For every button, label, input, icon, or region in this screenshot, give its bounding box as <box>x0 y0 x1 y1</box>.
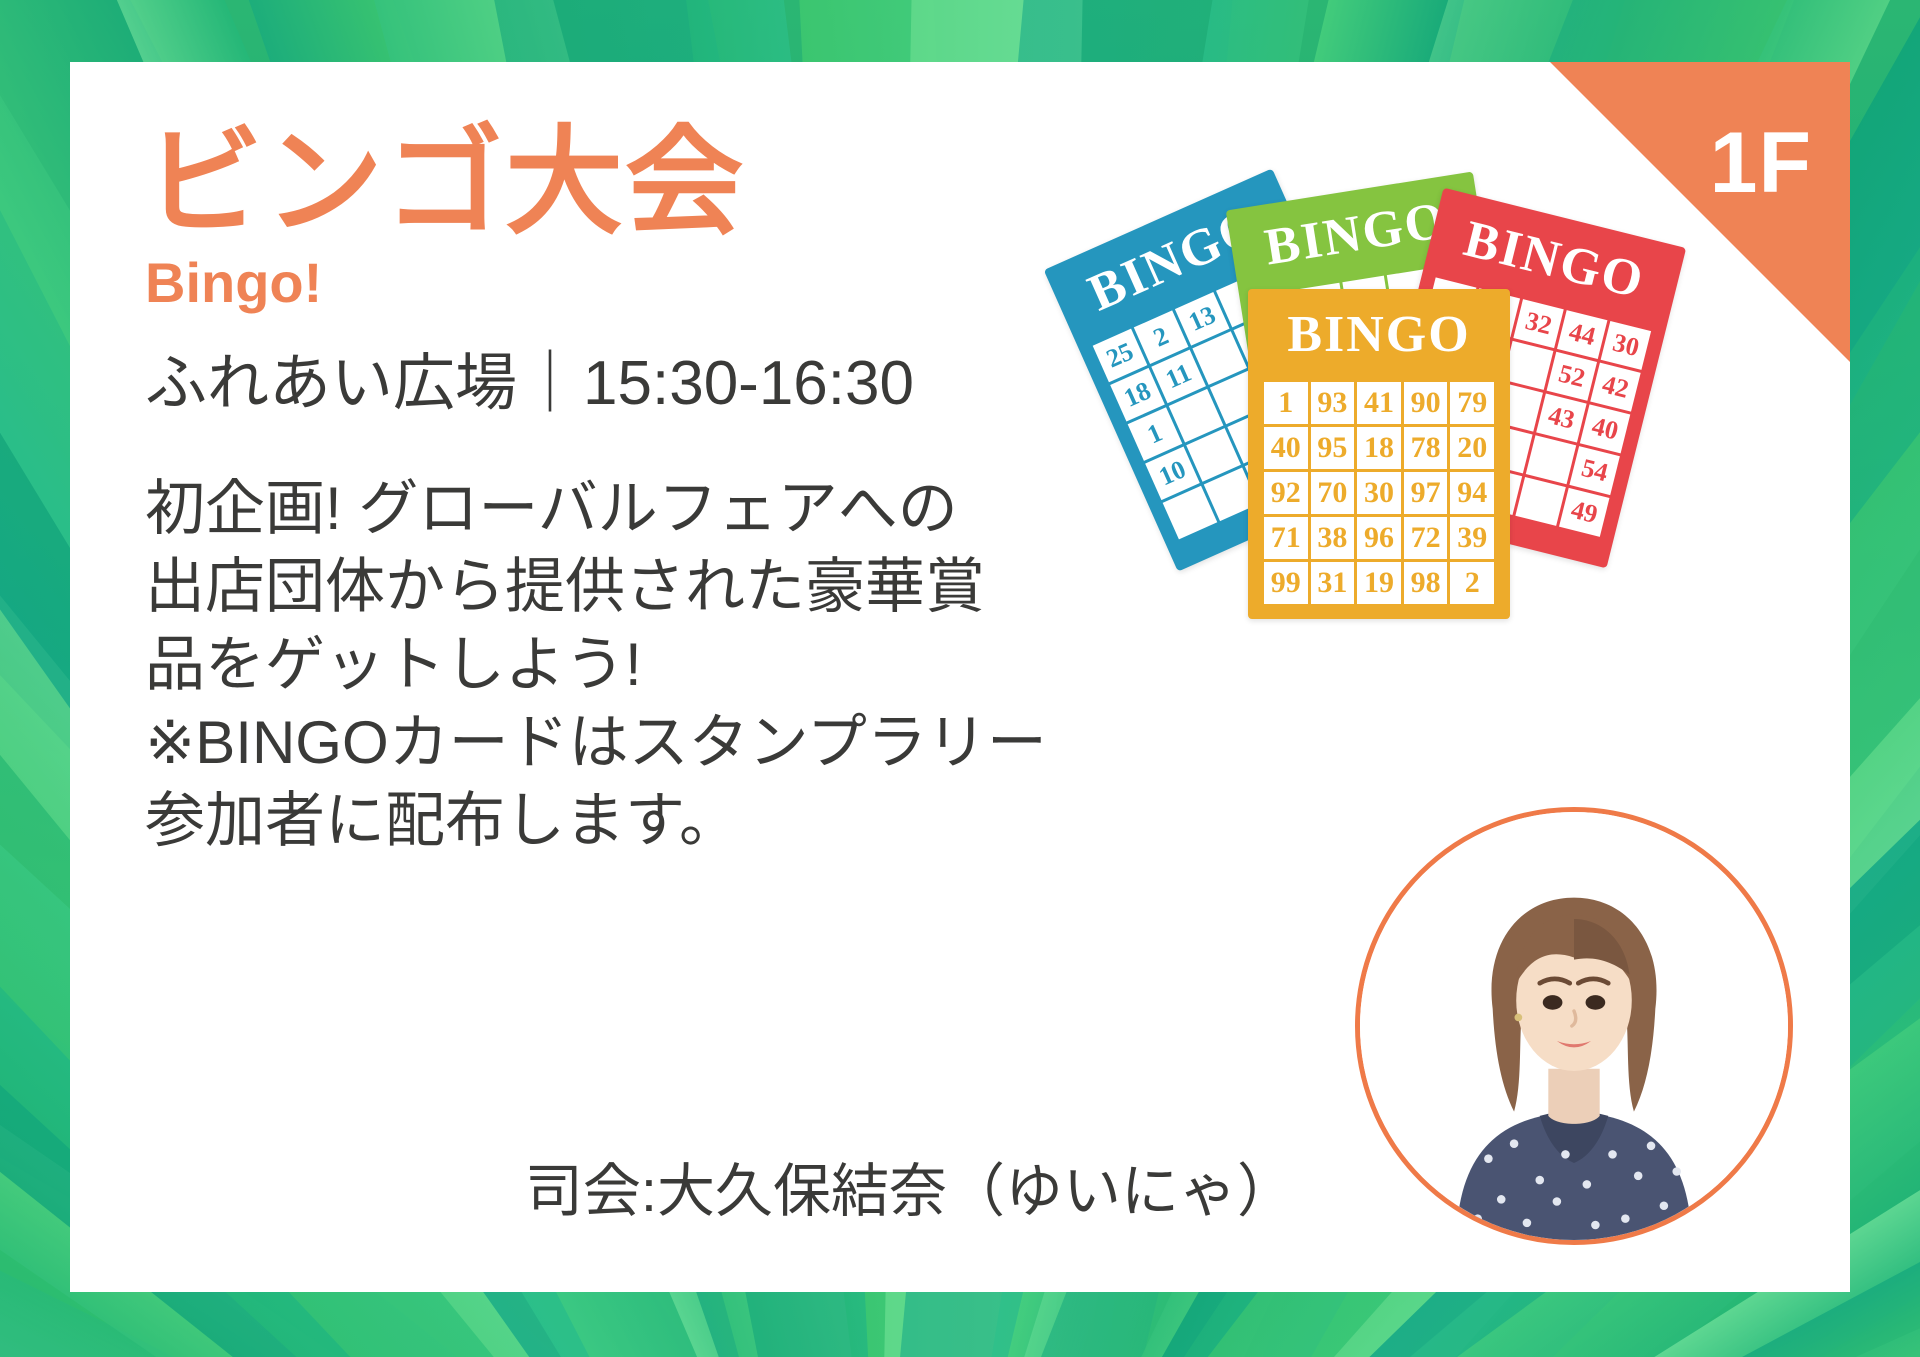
host-portrait-image <box>1360 812 1788 1240</box>
bingo-cell: 93 <box>1311 382 1355 424</box>
bingo-cell: 20 <box>1450 427 1494 469</box>
venue-label: ふれあい広場 <box>145 349 517 418</box>
bingo-cell: 70 <box>1311 472 1355 514</box>
bingo-cards-illustration: BINGO 252131811110 BINGO 6075 BINGO 3244… <box>1100 167 1720 617</box>
bingo-cell: 44 <box>1557 310 1607 359</box>
bingo-cell <box>1526 435 1576 484</box>
poster-root: 1F ビンゴ大会 Bingo! ふれあい広場｜15:30-16:30 初企画! … <box>0 0 1920 1357</box>
bingo-cell: 54 <box>1569 446 1619 495</box>
bingo-cell: 41 <box>1357 382 1401 424</box>
description-line: ※BINGOカードはスタンプラリー <box>145 704 1155 782</box>
bingo-cell: 38 <box>1311 517 1355 559</box>
bingo-cell: 72 <box>1404 517 1448 559</box>
page-title: ビンゴ大会 <box>145 122 1155 245</box>
host-credit: 司会:大久保結奈（ゆいにゃ） <box>145 1157 1295 1227</box>
content-card: 1F ビンゴ大会 Bingo! ふれあい広場｜15:30-16:30 初企画! … <box>70 62 1850 1292</box>
bingo-cell: 30 <box>1601 321 1651 370</box>
bingo-cell: 19 <box>1357 562 1401 604</box>
bingo-cell: 31 <box>1311 562 1355 604</box>
description-line: 初企画! グローバルフェアへの <box>145 470 1155 548</box>
floor-badge-label: 1F <box>1710 120 1812 206</box>
description-line: 参加者に配布します。 <box>145 782 1155 860</box>
bingo-cell: 79 <box>1450 382 1494 424</box>
text-column: ビンゴ大会 Bingo! ふれあい広場｜15:30-16:30 初企画! グロー… <box>145 122 1155 860</box>
bingo-cell: 96 <box>1357 517 1401 559</box>
bingo-cell: 94 <box>1450 472 1494 514</box>
description-line: 品をゲットしよう! <box>145 626 1155 704</box>
bingo-cell: 32 <box>1513 299 1563 348</box>
bingo-cell: 39 <box>1450 517 1494 559</box>
bingo-cell <box>1515 477 1565 526</box>
page-subtitle: Bingo! <box>145 251 1155 315</box>
bingo-cell: 99 <box>1264 562 1308 604</box>
bingo-cell: 71 <box>1264 517 1308 559</box>
venue-time-separator: ｜ <box>517 349 583 418</box>
bingo-cell: 40 <box>1580 404 1630 453</box>
bingo-card-orange: BINGO 1934190794095187820927030979471389… <box>1248 289 1510 619</box>
host-portrait-avatar <box>1355 807 1793 1245</box>
bingo-cell: 42 <box>1590 363 1640 412</box>
bingo-cell: 98 <box>1404 562 1448 604</box>
bingo-cell: 43 <box>1536 394 1586 443</box>
bingo-cell: 2 <box>1450 562 1494 604</box>
bingo-cell: 40 <box>1264 427 1308 469</box>
venue-time-line: ふれあい広場｜15:30-16:30 <box>145 347 1155 421</box>
bingo-cell: 78 <box>1404 427 1448 469</box>
time-label: 15:30-16:30 <box>583 349 914 418</box>
bingo-cell: 1 <box>1264 382 1308 424</box>
bingo-cell: 97 <box>1404 472 1448 514</box>
description-line: 出店団体から提供された豪華賞 <box>145 548 1155 626</box>
bingo-cell: 90 <box>1404 382 1448 424</box>
description-text: 初企画! グローバルフェアへの 出店団体から提供された豪華賞 品をゲットしよう!… <box>145 470 1155 860</box>
bingo-cell: 95 <box>1311 427 1355 469</box>
bingo-card-grid: 1934190794095187820927030979471389672399… <box>1264 382 1494 604</box>
bingo-cell: 18 <box>1357 427 1401 469</box>
bingo-cell: 49 <box>1559 488 1609 537</box>
bingo-cell: 52 <box>1547 352 1597 401</box>
bingo-cell: 92 <box>1264 472 1308 514</box>
bingo-card-heading: BINGO <box>1248 289 1510 364</box>
bingo-cell <box>1503 341 1553 390</box>
bingo-cell: 30 <box>1357 472 1401 514</box>
